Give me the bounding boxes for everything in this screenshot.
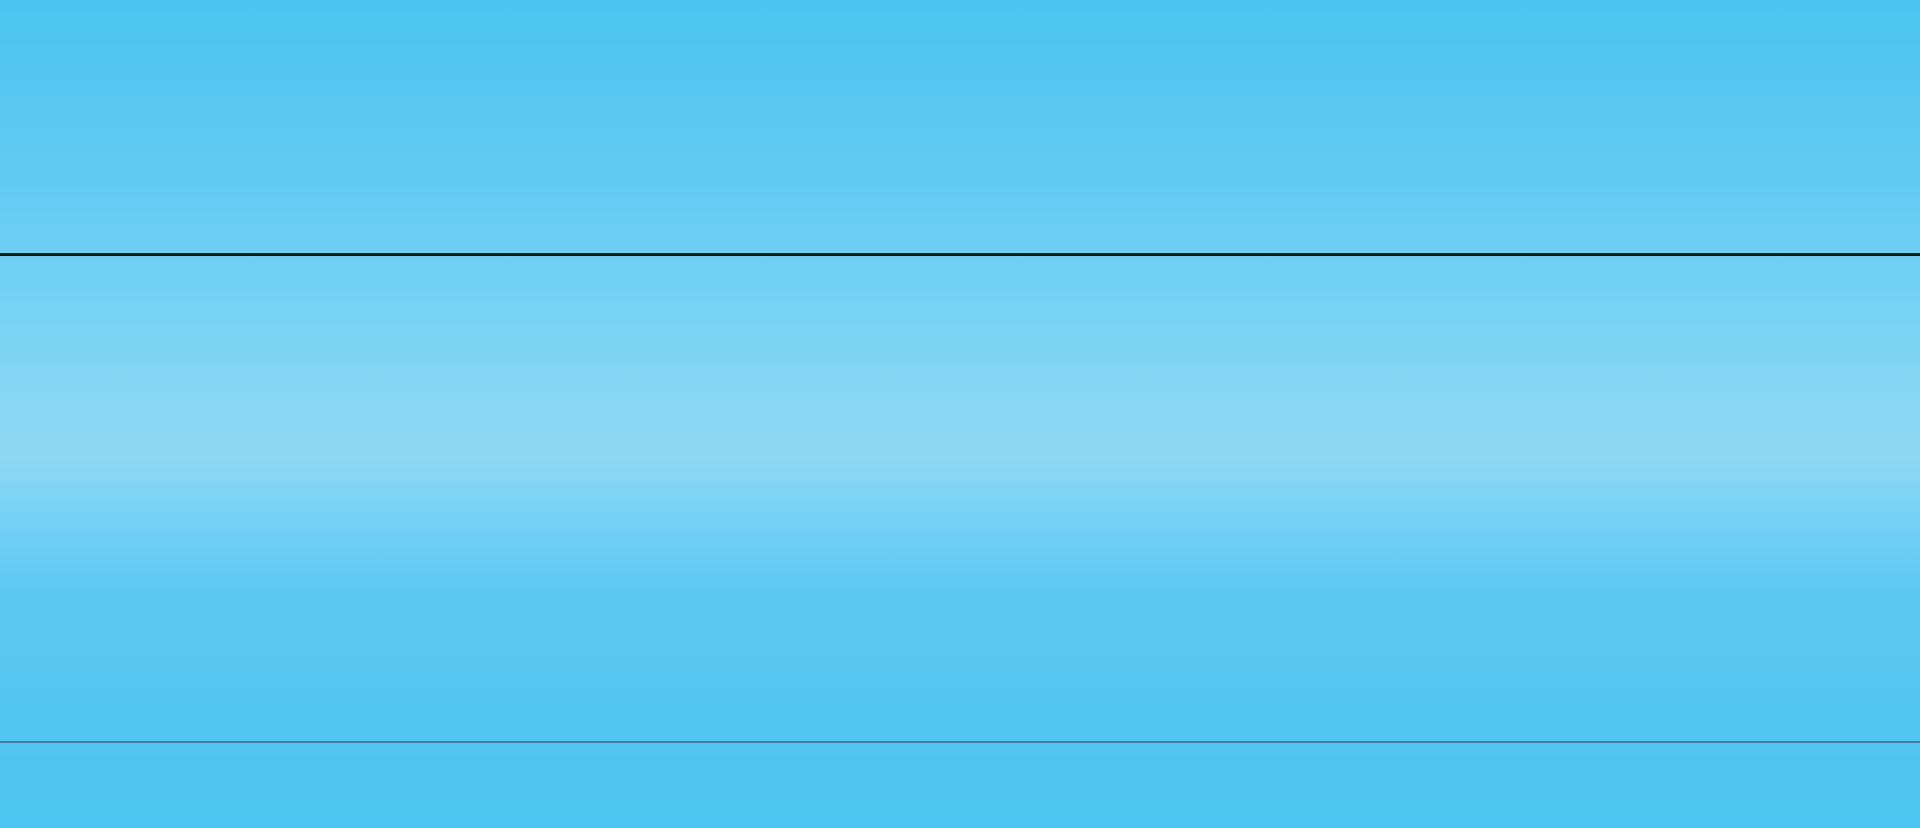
top-axis-labels — [0, 196, 1920, 256]
spectrum-plot — [0, 256, 1920, 741]
page-header — [0, 0, 1920, 200]
spectral-chart-page — [0, 0, 1920, 828]
spectrum-canvas — [0, 256, 1920, 741]
bottom-axis-species-labels — [0, 765, 1920, 805]
